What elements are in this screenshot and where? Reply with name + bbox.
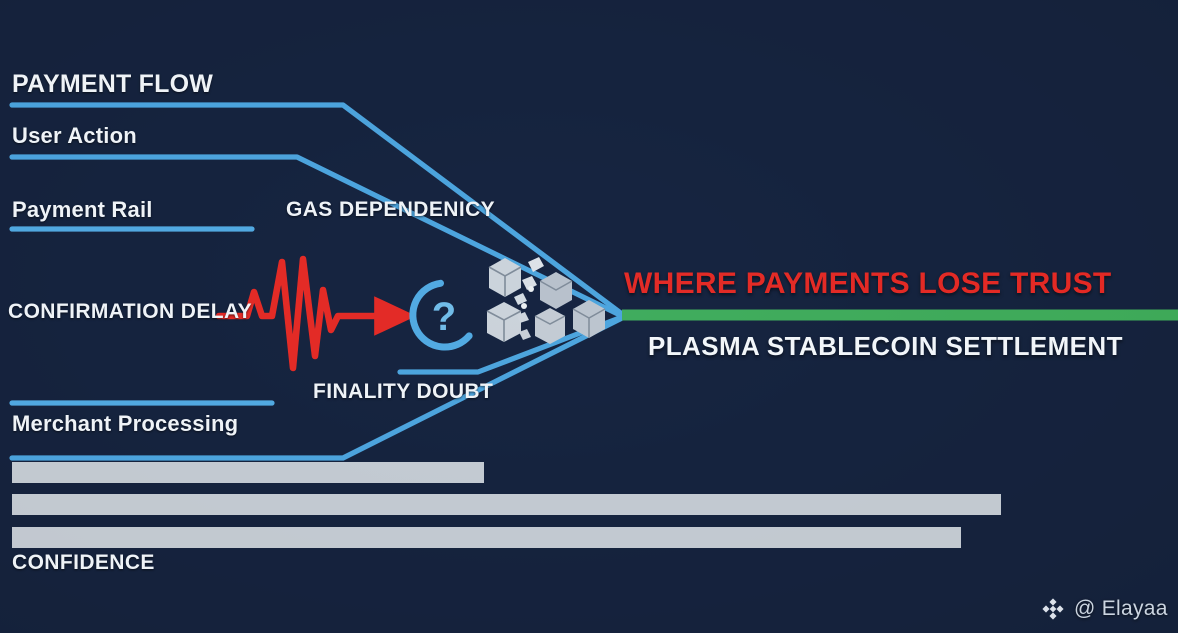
confidence-bar-1 — [12, 462, 484, 483]
problem-label-gas-dependency: GAS DEPENDENICY — [286, 198, 495, 222]
section-title-payment-flow: PAYMENT FLOW — [12, 70, 213, 99]
confidence-bar-3 — [12, 527, 961, 548]
rail-label-user-action: User Action — [12, 123, 137, 149]
watermark: @ Elayaa — [1040, 596, 1168, 622]
funnel-rail-upper-2 — [12, 157, 622, 316]
binance-diamond-icon — [1040, 596, 1066, 622]
question-circle-icon: ? — [409, 280, 471, 351]
outcome-headline: WHERE PAYMENTS LOSE TRUST — [624, 267, 1112, 301]
confidence-bar-2 — [12, 494, 1001, 515]
confidence-axis-label: CONFIDENCE — [12, 551, 155, 575]
watermark-handle: @ Elayaa — [1074, 597, 1168, 621]
infographic-canvas: ? — [0, 0, 1178, 633]
outcome-subline: PLASMA STABLECOIN SETTLEMENT — [648, 331, 1123, 362]
problem-label-finality-doubt: FINALITY DOUBT — [313, 380, 493, 404]
rail-label-payment-rail: Payment Rail — [12, 197, 153, 223]
problem-label-confirmation-delay: CONFIRMATION DELAY — [8, 300, 252, 324]
rail-label-merchant-processing: Merchant Processing — [12, 411, 238, 437]
svg-text:?: ? — [432, 295, 456, 339]
confidence-bars — [12, 462, 1001, 548]
